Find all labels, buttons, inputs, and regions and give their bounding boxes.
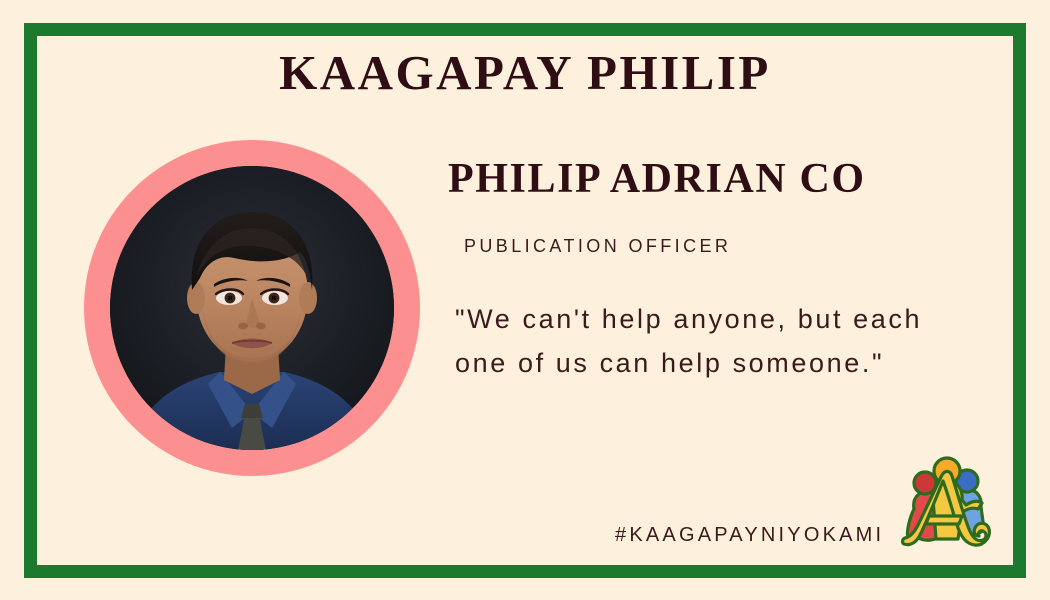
portrait-photo-container xyxy=(84,140,420,476)
page-title: KAAGAPAY PHILIP xyxy=(0,47,1050,98)
person-role: PUBLICATION OFFICER xyxy=(464,236,731,257)
person-quote: "We can't help anyone, but each one of u… xyxy=(455,297,925,386)
person-name: PHILIP ADRIAN CO xyxy=(448,155,866,203)
portrait-photo-image xyxy=(110,166,394,450)
kaagapay-logo-icon xyxy=(892,447,992,552)
poster-canvas: KAAGAPAY PHILIP xyxy=(0,0,1050,600)
campaign-hashtag: #KAAGAPAYNIYOKAMI xyxy=(615,524,884,547)
